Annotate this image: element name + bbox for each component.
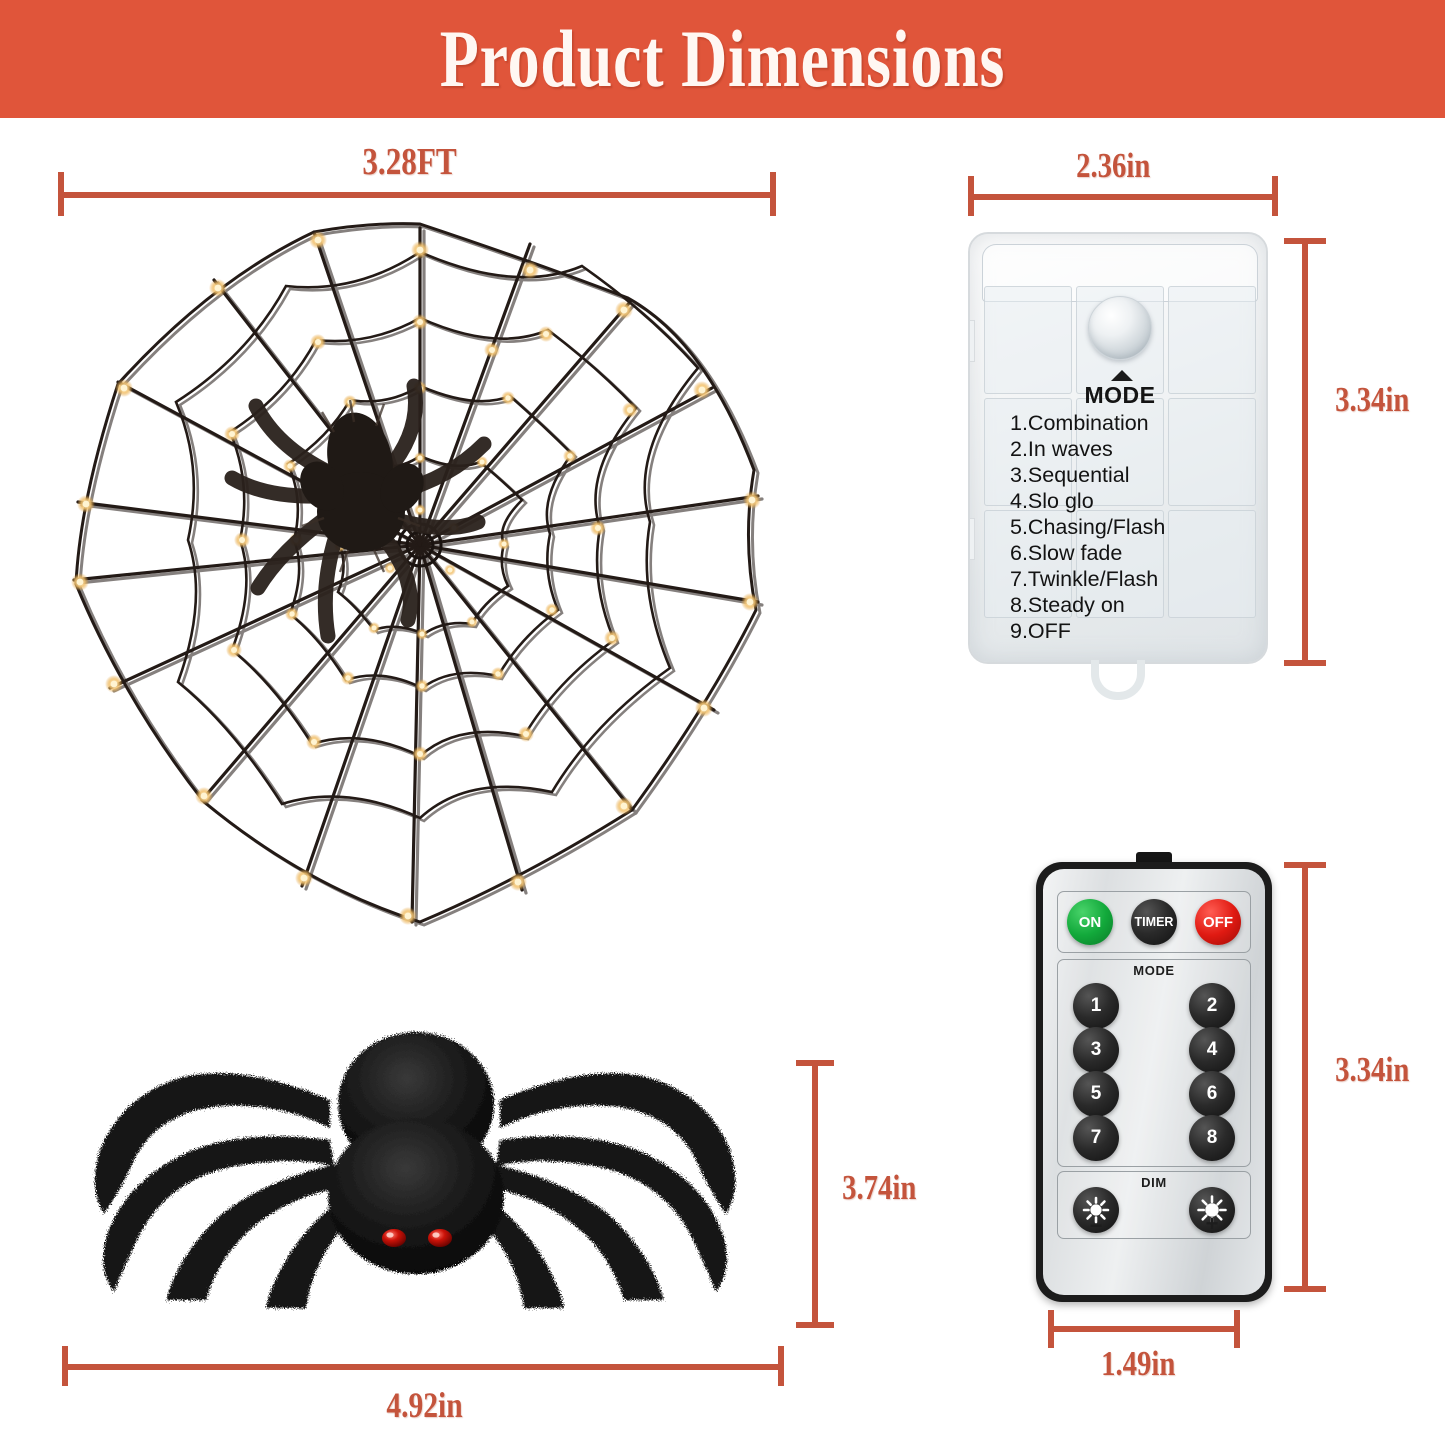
remote-mode-button-3[interactable]: 3 xyxy=(1073,1027,1119,1073)
battery-box-product-image: MODE 1.Combination 2.In waves 3.Sequenti… xyxy=(968,232,1268,702)
product-dimensions-infographic: Product Dimensions xyxy=(0,0,1445,1445)
dim-label-battery-width: 2.36in xyxy=(1076,146,1150,186)
on-label: ON xyxy=(1079,914,1102,931)
mode-item: 9.OFF xyxy=(1010,618,1250,644)
dim-label-plush-height: 3.74in xyxy=(842,1168,916,1208)
dimline-web-width xyxy=(58,192,776,198)
dim-label-battery-height: 3.34in xyxy=(1335,380,1409,420)
dim-label-remote-width: 1.49in xyxy=(1101,1344,1175,1384)
dim-label-plush-width: 4.92in xyxy=(386,1384,462,1426)
mode-button-label: 8 xyxy=(1207,1127,1218,1149)
battery-box-mode-button[interactable] xyxy=(1088,296,1152,360)
dimline-cap-bottom xyxy=(1284,1286,1326,1292)
dimline-cap-bottom xyxy=(796,1322,834,1328)
dimline-cap-left xyxy=(1048,1310,1054,1348)
mode-button-label: 1 xyxy=(1091,995,1102,1017)
mode-button-label: 2 xyxy=(1207,995,1218,1017)
dim-label-web-width: 3.28FT xyxy=(362,140,456,184)
dimline-plush-width xyxy=(62,1364,784,1370)
dimline-cap-left xyxy=(62,1346,68,1386)
dimline-battery-height xyxy=(1302,238,1308,666)
dimline-battery-width xyxy=(968,194,1278,200)
dim-minus-label: − xyxy=(1073,1213,1119,1239)
mode-heading: MODE xyxy=(970,382,1268,409)
off-label: OFF xyxy=(1203,914,1233,931)
dimline-cap-top xyxy=(796,1060,834,1066)
page-title: Product Dimensions xyxy=(440,12,1005,106)
dimline-cap-right xyxy=(770,172,776,216)
remote-dim-label: DIM xyxy=(1057,1175,1251,1190)
remote-mode-button-7[interactable]: 7 xyxy=(1073,1115,1119,1161)
dimline-cap-right xyxy=(1234,1310,1240,1348)
mode-item: 5.Chasing/Flash xyxy=(1010,514,1250,540)
mode-item: 8.Steady on xyxy=(1010,592,1250,618)
mode-item: 3.Sequential xyxy=(1010,462,1250,488)
dimline-cap-top xyxy=(1284,238,1326,244)
mode-button-label: 4 xyxy=(1207,1039,1218,1061)
mode-button-label: 6 xyxy=(1207,1083,1218,1105)
remote-mode-button-2[interactable]: 2 xyxy=(1189,983,1235,1029)
web-spider-figure xyxy=(232,386,484,636)
dimline-cap-left xyxy=(58,172,64,216)
remote-shell: ON TIMER OFF MODE 1 2 3 xyxy=(1036,862,1272,1302)
mode-item: 1.Combination xyxy=(1010,410,1250,436)
dimline-cap-bottom xyxy=(1284,660,1326,666)
mode-button-label: 7 xyxy=(1091,1127,1102,1149)
dimline-remote-width xyxy=(1048,1326,1240,1332)
header-banner: Product Dimensions xyxy=(0,0,1445,118)
remote-mode-button-1[interactable]: 1 xyxy=(1073,983,1119,1029)
mode-button-label: 5 xyxy=(1091,1083,1102,1105)
timer-label: TIMER xyxy=(1135,915,1174,929)
mode-item: 6.Slow fade xyxy=(1010,540,1250,566)
remote-on-button[interactable]: ON xyxy=(1067,899,1113,945)
battery-box-hanging-loop xyxy=(1091,660,1145,700)
remote-mode-button-6[interactable]: 6 xyxy=(1189,1071,1235,1117)
dimline-remote-height xyxy=(1302,862,1308,1292)
remote-mode-button-8[interactable]: 8 xyxy=(1189,1115,1235,1161)
remote-control-product-image: ON TIMER OFF MODE 1 2 3 xyxy=(1036,852,1272,1302)
dimline-cap-right xyxy=(1272,176,1278,216)
remote-mode-button-5[interactable]: 5 xyxy=(1073,1071,1119,1117)
dim-plus-label: + xyxy=(1189,1211,1235,1237)
plush-spider-product-image xyxy=(30,1000,820,1320)
battery-box-body: MODE 1.Combination 2.In waves 3.Sequenti… xyxy=(968,232,1268,664)
mode-list: 1.Combination 2.In waves 3.Sequential 4.… xyxy=(1010,410,1250,644)
mode-triangle-icon xyxy=(1111,370,1133,381)
dimline-cap-left xyxy=(968,176,974,216)
dim-label-remote-height: 3.34in xyxy=(1335,1050,1409,1090)
remote-face: ON TIMER OFF MODE 1 2 3 xyxy=(1043,869,1265,1295)
spider-web-product-image xyxy=(52,210,792,940)
dimline-cap-right xyxy=(778,1346,784,1386)
remote-timer-button[interactable]: TIMER xyxy=(1131,899,1177,945)
remote-mode-label: MODE xyxy=(1057,963,1251,978)
mode-button-label: 3 xyxy=(1091,1039,1102,1061)
mode-item: 7.Twinkle/Flash xyxy=(1010,566,1250,592)
dimline-plush-height xyxy=(812,1060,818,1328)
mode-item: 2.In waves xyxy=(1010,436,1250,462)
dimline-cap-top xyxy=(1284,862,1326,868)
remote-mode-button-4[interactable]: 4 xyxy=(1189,1027,1235,1073)
mode-item: 4.Slo glo xyxy=(1010,488,1250,514)
remote-off-button[interactable]: OFF xyxy=(1195,899,1241,945)
